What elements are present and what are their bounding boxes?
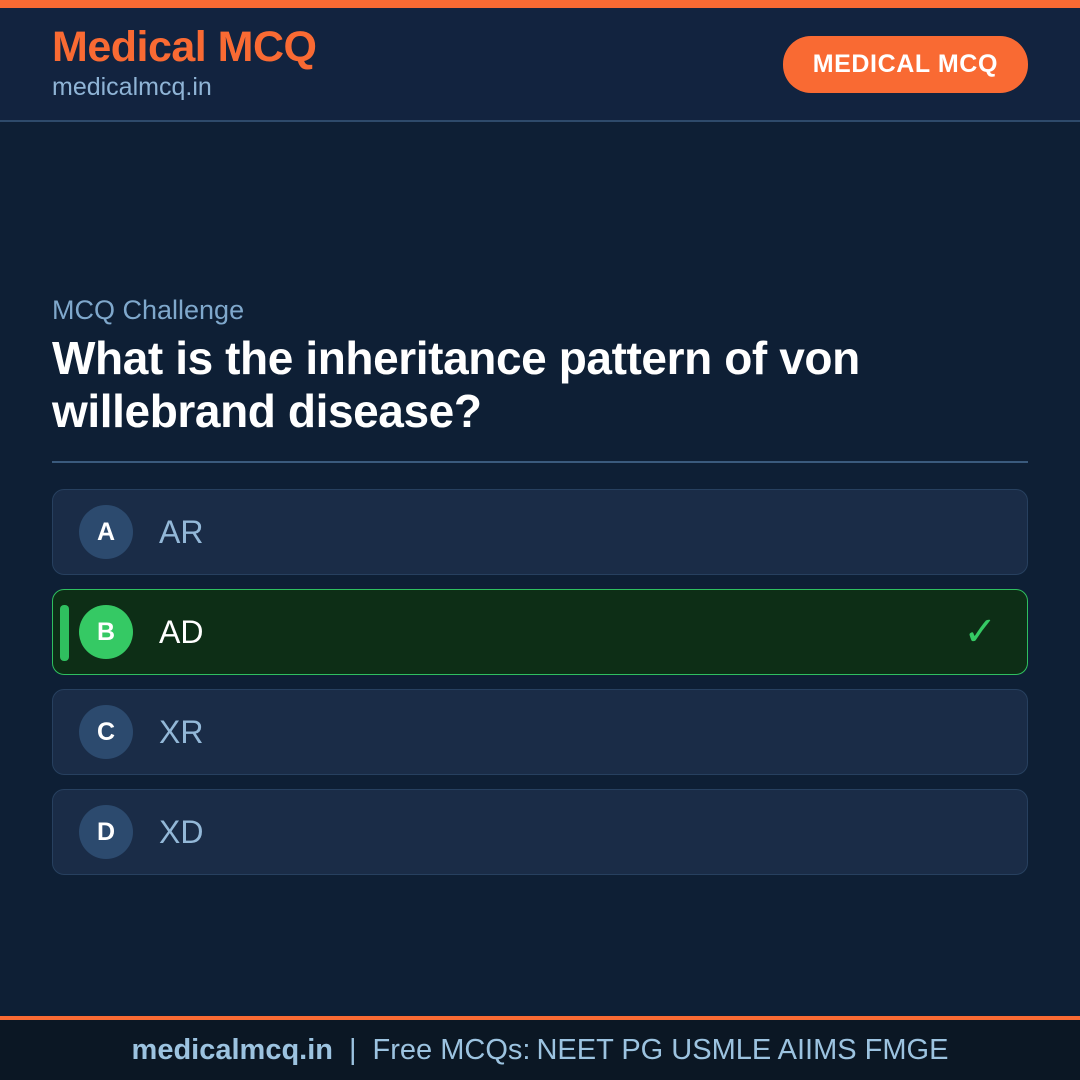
option-letter-d: D	[79, 805, 133, 859]
option-row-c[interactable]: C XR ✓	[52, 689, 1028, 775]
footer-site: medicalmcq.in	[132, 1034, 333, 1066]
kicker-label: MCQ Challenge	[52, 294, 1028, 326]
option-row-d[interactable]: D XD ✓	[52, 789, 1028, 875]
option-letter-b: B	[79, 605, 133, 659]
main-content: MCQ Challenge What is the inheritance pa…	[0, 122, 1080, 1016]
mcq-card: Medical MCQ medicalmcq.in MEDICAL MCQ MC…	[0, 0, 1080, 1080]
correct-accent-bar	[60, 605, 69, 661]
option-text-c: XR	[159, 716, 203, 748]
option-text-d: XD	[159, 816, 203, 848]
top-accent-bar	[0, 0, 1080, 8]
options-list: A AR ✓ B AD ✓ C XR ✓ D XD	[52, 489, 1028, 875]
footer-text: medicalmcq.in|Free MCQs:NEET PG USMLE AI…	[132, 1034, 949, 1067]
option-letter-a: A	[79, 505, 133, 559]
option-text-a: AR	[159, 516, 203, 548]
footer-exams: NEET PG USMLE AIIMS FMGE	[530, 1034, 948, 1066]
option-row-a[interactable]: A AR ✓	[52, 489, 1028, 575]
question-text: What is the inheritance pattern of von w…	[52, 332, 982, 437]
brand: Medical MCQ medicalmcq.in	[52, 25, 317, 103]
header: Medical MCQ medicalmcq.in MEDICAL MCQ	[0, 8, 1080, 122]
question-divider	[52, 461, 1028, 463]
question-block: MCQ Challenge What is the inheritance pa…	[52, 294, 1028, 875]
option-row-b[interactable]: B AD ✓	[52, 589, 1028, 675]
brand-subtitle: medicalmcq.in	[52, 72, 317, 103]
option-letter-c: C	[79, 705, 133, 759]
footer-separator: |	[333, 1034, 373, 1066]
check-icon: ✓	[963, 612, 997, 652]
brand-badge: MEDICAL MCQ	[783, 36, 1028, 93]
footer-label: Free MCQs:	[373, 1034, 531, 1066]
brand-title: Medical MCQ	[52, 25, 317, 70]
option-text-b: AD	[159, 616, 203, 648]
footer: medicalmcq.in|Free MCQs:NEET PG USMLE AI…	[0, 1016, 1080, 1080]
